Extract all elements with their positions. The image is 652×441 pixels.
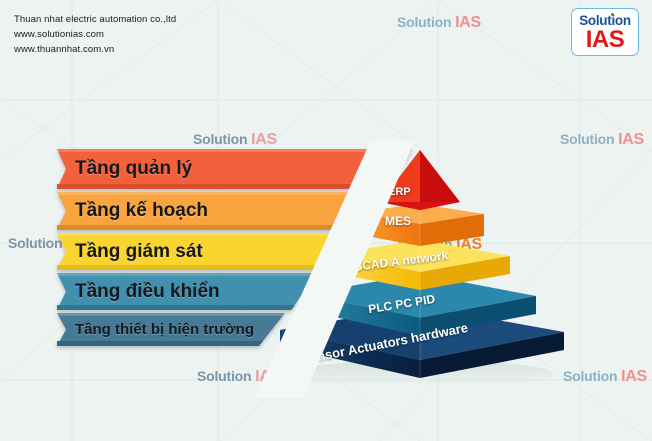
- logo-solution-label: Solution: [579, 13, 631, 28]
- layer-bar-label: Tầng quản lý: [75, 158, 192, 180]
- logo-ias-text: IAS: [586, 28, 625, 51]
- watermark-ias-text: IAS: [455, 14, 481, 31]
- layer-bar-label: Tầng kế hoạch: [75, 200, 208, 222]
- watermark-solution-text: Solution: [560, 131, 614, 147]
- layer-bar-label: Tầng điều khiển: [75, 281, 220, 303]
- watermark-ias-text: IAS: [618, 131, 644, 148]
- watermark-7: Solution IAS: [563, 368, 647, 386]
- watermark-ias-text: IAS: [621, 368, 647, 385]
- watermark-solution-text: Solution: [397, 14, 451, 30]
- watermark-solution-text: Solution: [8, 235, 62, 251]
- logo-i-dot-icon: [611, 13, 614, 16]
- company-name: Thuan nhat electric automation co.,ltd: [14, 12, 176, 27]
- company-header: Thuan nhat electric automation co.,ltd w…: [14, 12, 176, 57]
- company-site-2: www.thuannhat.com.vn: [14, 42, 176, 57]
- solution-ias-logo: Solution IAS: [571, 8, 639, 56]
- watermark-3: Solution IAS: [560, 131, 644, 149]
- company-site-1: www.solutionias.com: [14, 27, 176, 42]
- divider-band: [215, 140, 415, 400]
- watermark-1: Solution IAS: [397, 14, 481, 32]
- logo-solution-text: Solution: [579, 14, 631, 28]
- diagram-canvas: Thuan nhat electric automation co.,ltd w…: [0, 0, 652, 441]
- watermark-solution-text: Solution: [563, 368, 617, 384]
- layer-bar-label: Tầng giám sát: [75, 241, 203, 263]
